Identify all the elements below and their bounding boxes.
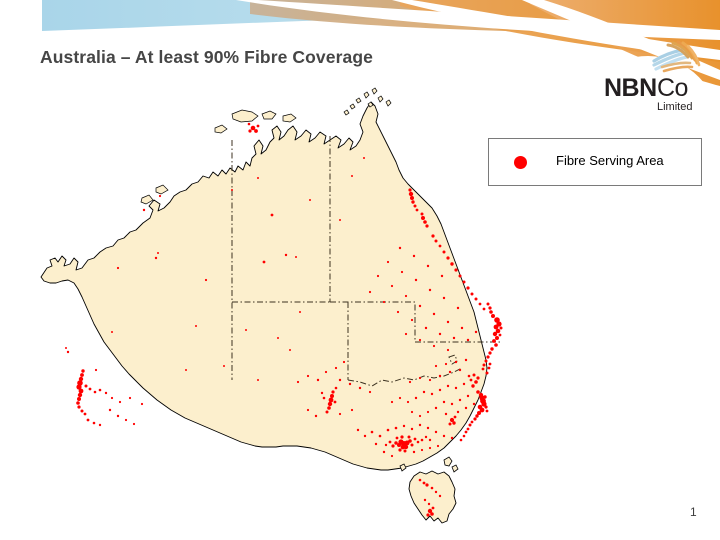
tasmania-north-east-islands (444, 457, 458, 472)
logo-text-co: Co (657, 74, 688, 102)
nbnco-wordmark: NBN Co Limited (604, 74, 710, 114)
logo-text-nbn: NBN (604, 74, 657, 102)
australia-mainland (41, 102, 487, 470)
australia-map (0, 80, 560, 540)
map-container (0, 80, 560, 540)
australia-fan-icon (648, 34, 704, 78)
nbnco-logo: NBN Co Limited (600, 34, 710, 116)
map-legend: Fibre Serving Area (488, 138, 702, 186)
legend-item-label: Fibre Serving Area (556, 153, 664, 168)
page-number: 1 (690, 505, 697, 519)
page-title: Australia – At least 90% Fibre Coverage (40, 47, 373, 68)
banner-band-blue (42, 0, 720, 31)
logo-text-limited: Limited (657, 101, 692, 113)
red-dot-icon (514, 156, 527, 169)
